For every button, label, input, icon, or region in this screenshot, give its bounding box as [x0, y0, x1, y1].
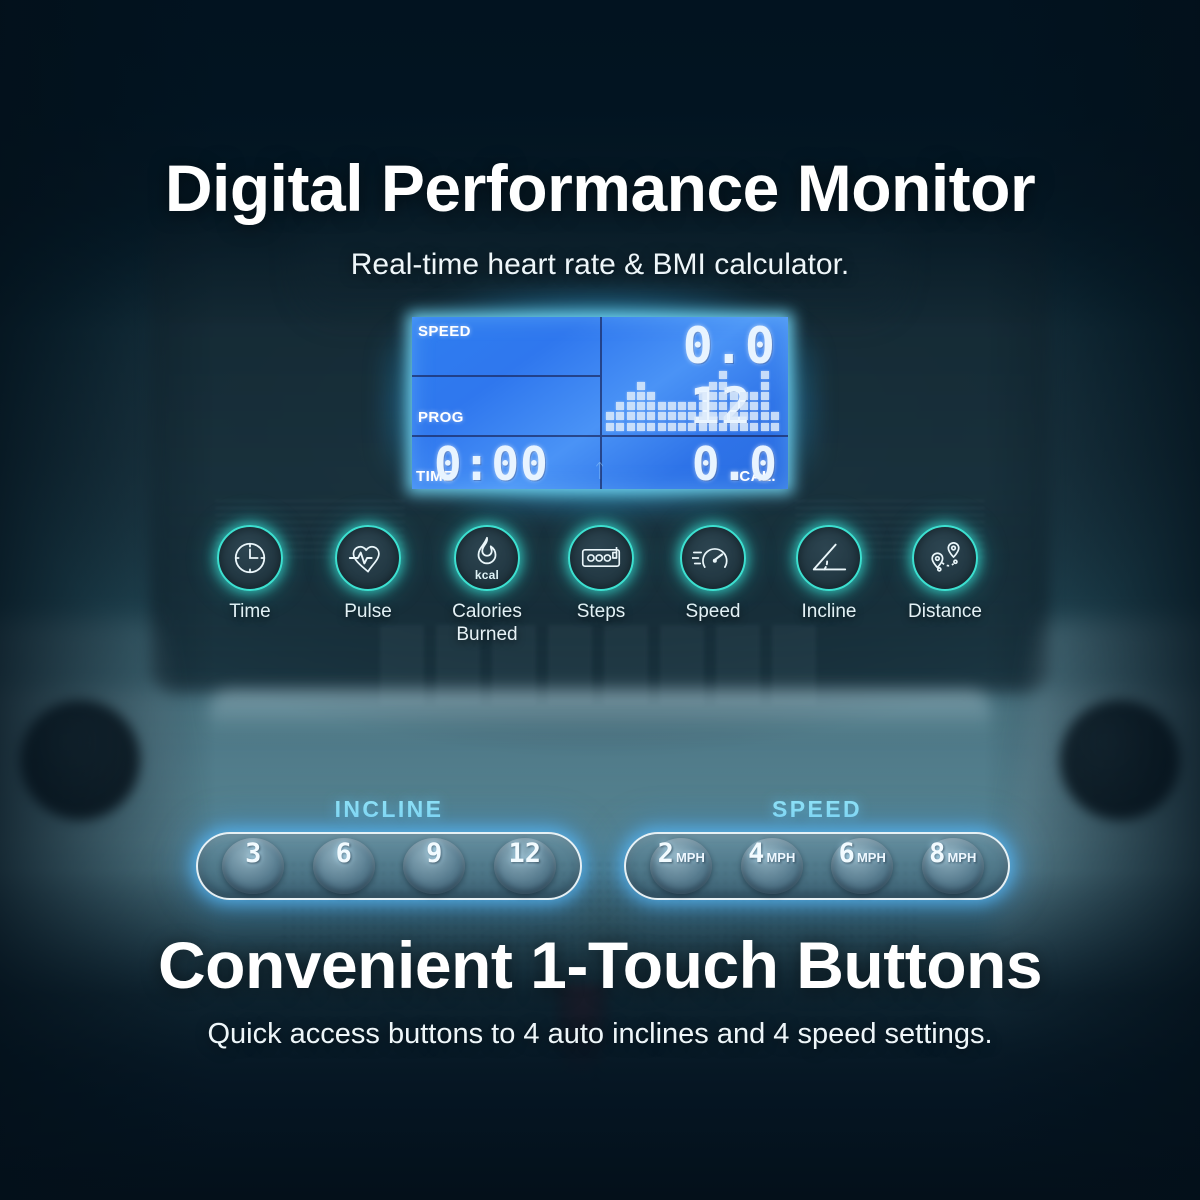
matrix-cell	[658, 423, 666, 431]
speed-button-value: 6	[839, 838, 855, 869]
matrix-cell	[688, 423, 696, 431]
matrix-cell	[730, 423, 738, 431]
incline-button-group: 36912	[196, 832, 582, 900]
lcd-screen: SPEED 0.0 PROG 12 TIME 0:00 CAL. 0.0 ᛏ	[412, 317, 788, 489]
matrix-cell	[606, 423, 614, 431]
matrix-cell	[719, 371, 727, 379]
speed-button-unit: MPH	[676, 850, 705, 865]
bottom-headline: Convenient 1-Touch Buttons	[0, 925, 1200, 1005]
incline-button-value: 3	[245, 838, 261, 869]
matrix-cell	[740, 423, 748, 431]
matrix-cell	[678, 423, 686, 431]
incline-button-12[interactable]: 12	[494, 838, 556, 894]
matrix-cell	[616, 423, 624, 431]
matrix-cell	[647, 423, 655, 431]
matrix-cell	[740, 402, 748, 410]
matrix-cell	[637, 392, 645, 400]
matrix-cell	[668, 402, 676, 410]
matrix-cell	[719, 402, 727, 410]
matrix-cell	[627, 412, 635, 420]
matrix-cell	[627, 402, 635, 410]
speed-button-value: 2	[658, 838, 674, 869]
speed-button-unit: MPH	[947, 850, 976, 865]
top-headline: Digital Performance Monitor	[0, 150, 1200, 226]
matrix-cell	[750, 423, 758, 431]
matrix-cell	[678, 412, 686, 420]
matrix-cell	[637, 412, 645, 420]
matrix-cell	[750, 392, 758, 400]
incline-panel-label: INCLINE	[196, 796, 582, 823]
metric-item-calories-burned: kcalCalories Burned	[427, 525, 547, 646]
lcd-prog-label: PROG	[418, 409, 464, 426]
metric-label: Steps	[541, 600, 661, 623]
speed-button-unit: MPH	[857, 850, 886, 865]
metric-label: Pulse	[308, 600, 428, 623]
matrix-cell	[668, 412, 676, 420]
metric-label: Distance	[885, 600, 1005, 623]
matrix-cell	[719, 412, 727, 420]
incline-button-9[interactable]: 9	[403, 838, 465, 894]
matrix-cell	[606, 412, 614, 420]
matrix-cell	[719, 382, 727, 390]
metric-item-steps: Steps	[541, 525, 661, 623]
matrix-cell	[699, 412, 707, 420]
metric-item-pulse: Pulse	[308, 525, 428, 623]
top-subtitle: Real-time heart rate & BMI calculator.	[0, 248, 1200, 282]
matrix-cell	[761, 402, 769, 410]
lcd-divider-vertical-top	[600, 317, 602, 435]
matrix-cell	[730, 402, 738, 410]
matrix-cell	[627, 423, 635, 431]
matrix-cell	[627, 392, 635, 400]
kcal-badge-label: kcal	[456, 568, 518, 582]
metric-label: Speed	[653, 600, 773, 623]
incline-button-panel: INCLINE 36912	[196, 796, 582, 900]
speed-button-4-mph[interactable]: 4MPH	[741, 838, 803, 894]
matrix-cell	[709, 412, 717, 420]
matrix-cell	[658, 412, 666, 420]
flame-kcal-icon: kcal	[454, 525, 520, 591]
matrix-cell	[616, 402, 624, 410]
matrix-cell	[750, 402, 758, 410]
matrix-cell	[761, 382, 769, 390]
metric-item-time: Time	[190, 525, 310, 623]
matrix-cell	[761, 412, 769, 420]
speedometer-icon	[680, 525, 746, 591]
metric-label: Incline	[769, 600, 889, 623]
matrix-cell	[699, 392, 707, 400]
speed-button-panel: SPEED 2MPH4MPH6MPH8MPH	[624, 796, 1010, 900]
matrix-cell	[699, 423, 707, 431]
metric-icon-row: TimePulsekcalCalories BurnedStepsSpeedIn…	[0, 525, 1200, 640]
speed-button-2-mph[interactable]: 2MPH	[650, 838, 712, 894]
lcd-display: SPEED 0.0 PROG 12 TIME 0:00 CAL. 0.0 ᛏ	[398, 305, 802, 501]
incline-angle-icon	[796, 525, 862, 591]
clock-icon	[217, 525, 283, 591]
matrix-cell	[678, 402, 686, 410]
matrix-cell	[637, 402, 645, 410]
matrix-cell	[658, 402, 666, 410]
matrix-cell	[750, 412, 758, 420]
lcd-cal-value: 0.0	[692, 437, 778, 489]
incline-button-value: 9	[426, 838, 442, 869]
speed-button-group: 2MPH4MPH6MPH8MPH	[624, 832, 1010, 900]
lcd-speed-label: SPEED	[418, 323, 471, 340]
matrix-cell	[709, 423, 717, 431]
incline-button-value: 6	[336, 838, 352, 869]
matrix-cell	[719, 423, 727, 431]
matrix-cell	[740, 412, 748, 420]
matrix-cell	[668, 423, 676, 431]
matrix-cell	[709, 392, 717, 400]
matrix-cell	[730, 412, 738, 420]
lcd-time-value: 0:00	[434, 437, 549, 489]
lcd-bar-matrix	[606, 327, 784, 433]
matrix-cell	[688, 412, 696, 420]
matrix-cell	[637, 423, 645, 431]
metric-label: Time	[190, 600, 310, 623]
map-route-icon	[912, 525, 978, 591]
speed-panel-label: SPEED	[624, 796, 1010, 823]
lcd-divider-speed-prog	[412, 375, 600, 377]
metric-label: Calories Burned	[427, 600, 547, 646]
matrix-cell	[699, 402, 707, 410]
speed-button-8-mph[interactable]: 8MPH	[922, 838, 984, 894]
heart-pulse-icon	[335, 525, 401, 591]
matrix-cell	[730, 392, 738, 400]
metric-item-distance: Distance	[885, 525, 1005, 623]
matrix-cell	[647, 412, 655, 420]
matrix-cell	[709, 382, 717, 390]
bluetooth-icon: ᛏ	[594, 461, 605, 483]
matrix-cell	[688, 402, 696, 410]
speed-button-unit: MPH	[766, 850, 795, 865]
matrix-cell	[761, 392, 769, 400]
speed-button-6-mph[interactable]: 6MPH	[831, 838, 893, 894]
matrix-cell	[761, 423, 769, 431]
incline-button-value: 12	[508, 838, 541, 869]
speed-button-value: 4	[748, 838, 764, 869]
matrix-cell	[616, 412, 624, 420]
matrix-cell	[771, 412, 779, 420]
matrix-cell	[637, 382, 645, 390]
matrix-cell	[761, 371, 769, 379]
metric-item-speed: Speed	[653, 525, 773, 623]
matrix-cell	[709, 402, 717, 410]
speed-button-value: 8	[929, 838, 945, 869]
matrix-cell	[771, 423, 779, 431]
matrix-cell	[740, 392, 748, 400]
pedometer-icon	[568, 525, 634, 591]
matrix-cell	[647, 402, 655, 410]
metric-item-incline: Incline	[769, 525, 889, 623]
incline-button-3[interactable]: 3	[222, 838, 284, 894]
matrix-cell	[647, 392, 655, 400]
product-feature-graphic: Digital Performance Monitor Real-time he…	[0, 0, 1200, 1200]
matrix-cell	[719, 392, 727, 400]
bottom-subtitle: Quick access buttons to 4 auto inclines …	[0, 1018, 1200, 1051]
incline-button-6[interactable]: 6	[313, 838, 375, 894]
